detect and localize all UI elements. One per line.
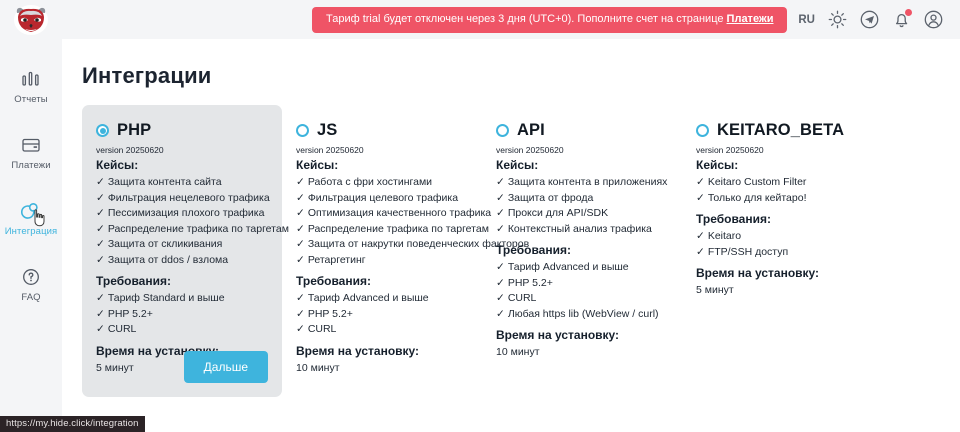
page-title: Интеграции [82, 63, 960, 89]
requirement-item: ✓Тариф Standard и выше [96, 291, 268, 307]
sidebar-item-label: Интеграция [5, 226, 58, 237]
radio-keitaro-beta[interactable] [696, 124, 709, 137]
case-item: ✓Защита от ddos / взлома [96, 253, 268, 269]
requirement-item: ✓FTP/SSH доступ [696, 245, 868, 261]
integration-card-api[interactable]: API version 20250620 Кейсы: ✓Защита конт… [482, 105, 682, 374]
sidebar-nav: Отчеты Платежи [0, 59, 62, 323]
header-actions: RU [798, 10, 943, 29]
integration-card-js[interactable]: JS version 20250620 Кейсы: ✓Работа с фри… [282, 105, 482, 390]
cases-heading: Кейсы: [96, 158, 268, 172]
case-item: ✓Контекстный анализ трафика [496, 222, 668, 238]
case-item: ✓Защита контента сайта [96, 175, 268, 191]
question-circle-icon [20, 266, 42, 288]
requirements-heading: Требования: [496, 243, 668, 257]
sidebar-item-faq[interactable]: FAQ [0, 257, 62, 312]
sidebar-item-label: Платежи [11, 160, 50, 171]
install-time-value: 5 минут [696, 283, 868, 298]
case-item: ✓Keitaro Custom Filter [696, 175, 868, 191]
sidebar-item-label: Отчеты [14, 94, 47, 105]
case-item: ✓Прокси для API/SDK [496, 206, 668, 222]
sidebar-item-otchety[interactable]: Отчеты [0, 59, 62, 114]
integration-card-keitaro-beta[interactable]: KEITARO_BETA version 20250620 Кейсы: ✓Ke… [682, 105, 882, 312]
case-item: ✓Распределение трафика по таргетам [296, 222, 468, 238]
telegram-icon[interactable] [860, 10, 879, 29]
case-item: ✓Защита от фрода [496, 191, 668, 207]
card-icon [20, 134, 42, 156]
radio-api[interactable] [496, 124, 509, 137]
next-button[interactable]: Дальше [184, 351, 268, 383]
requirement-item: ✓Тариф Advanced и выше [296, 291, 468, 307]
case-item: ✓Оптимизация качественного трафика [296, 206, 468, 222]
install-time-value: 10 минут [296, 361, 468, 376]
language-switcher[interactable]: RU [798, 14, 815, 26]
card-header: JS [296, 121, 468, 140]
requirement-item: ✓CURL [296, 322, 468, 338]
case-item: ✓Фильтрация целевого трафика [296, 191, 468, 207]
card-header: KEITARO_BETA [696, 121, 868, 140]
card-version: version 20250620 [696, 145, 868, 155]
sidebar-item-label: FAQ [21, 292, 40, 303]
requirement-item: ✓PHP 5.2+ [296, 307, 468, 323]
banner-text: Тариф trial будет отключен через 3 дня (… [326, 13, 727, 25]
card-title: KEITARO_BETA [717, 121, 844, 140]
card-version: version 20250620 [296, 145, 468, 155]
raccoon-logo[interactable] [12, 3, 50, 37]
cases-heading: Кейсы: [296, 158, 468, 172]
trial-warning-banner: Тариф trial будет отключен через 3 дня (… [312, 7, 787, 33]
requirement-item: ✓CURL [496, 291, 668, 307]
card-title: API [517, 121, 545, 140]
sidebar-item-integraciya[interactable]: Интеграция [0, 191, 62, 246]
requirement-item: ✓Тариф Advanced и выше [496, 260, 668, 276]
requirement-item: ✓Любая https lib (WebView / curl) [496, 307, 668, 323]
sidebar: Отчеты Платежи [0, 0, 62, 432]
requirement-item: ✓PHP 5.2+ [496, 276, 668, 292]
case-item: ✓Пессимизация плохого трафика [96, 206, 268, 222]
notification-badge [905, 9, 912, 16]
card-header: PHP [96, 121, 268, 140]
main-content: Интеграции PHP version 20250620 Кейсы: ✓… [62, 39, 960, 432]
radio-php[interactable] [96, 124, 109, 137]
install-time-heading: Время на установку: [296, 344, 468, 358]
cases-heading: Кейсы: [496, 158, 668, 172]
case-item: ✓Фильтрация нецелевого трафика [96, 191, 268, 207]
banner-payments-link[interactable]: Платежи [727, 13, 774, 25]
case-item: ✓Работа с фри хостингами [296, 175, 468, 191]
case-item: ✓Защита от скликивания [96, 237, 268, 253]
case-item: ✓Защита контента в приложениях [496, 175, 668, 191]
top-header: Тариф trial будет отключен через 3 дня (… [62, 0, 960, 39]
card-title: PHP [117, 121, 151, 140]
card-version: version 20250620 [496, 145, 668, 155]
user-circle-icon[interactable] [924, 10, 943, 29]
status-bar-url: https://my.hide.click/integration [0, 416, 145, 432]
card-title: JS [317, 121, 337, 140]
sidebar-item-platezhi[interactable]: Платежи [0, 125, 62, 180]
app-root: Отчеты Платежи [0, 0, 960, 432]
requirement-item: ✓PHP 5.2+ [96, 307, 268, 323]
install-time-heading: Время на установку: [696, 266, 868, 280]
case-item: ✓Защита от накрутки поведенческих фактор… [296, 237, 468, 253]
install-time-value: 10 минут [496, 345, 668, 360]
case-item: ✓Ретаргетинг [296, 253, 468, 269]
sun-icon[interactable] [828, 10, 847, 29]
requirements-heading: Требования: [696, 212, 868, 226]
case-item: ✓Распределение трафика по таргетам [96, 222, 268, 238]
install-time-heading: Время на установку: [496, 328, 668, 342]
integration-icon [20, 200, 42, 222]
integration-cards: PHP version 20250620 Кейсы: ✓Защита конт… [82, 105, 960, 397]
bell-icon[interactable] [892, 10, 911, 29]
requirement-item: ✓CURL [96, 322, 268, 338]
card-header: API [496, 121, 668, 140]
requirement-item: ✓Keitaro [696, 229, 868, 245]
integration-card-php[interactable]: PHP version 20250620 Кейсы: ✓Защита конт… [82, 105, 282, 397]
case-item: ✓Только для кейтаро! [696, 191, 868, 207]
card-version: version 20250620 [96, 145, 268, 155]
requirements-heading: Требования: [96, 274, 268, 288]
radio-js[interactable] [296, 124, 309, 137]
bar-chart-icon [20, 68, 42, 90]
cases-heading: Кейсы: [696, 158, 868, 172]
requirements-heading: Требования: [296, 274, 468, 288]
